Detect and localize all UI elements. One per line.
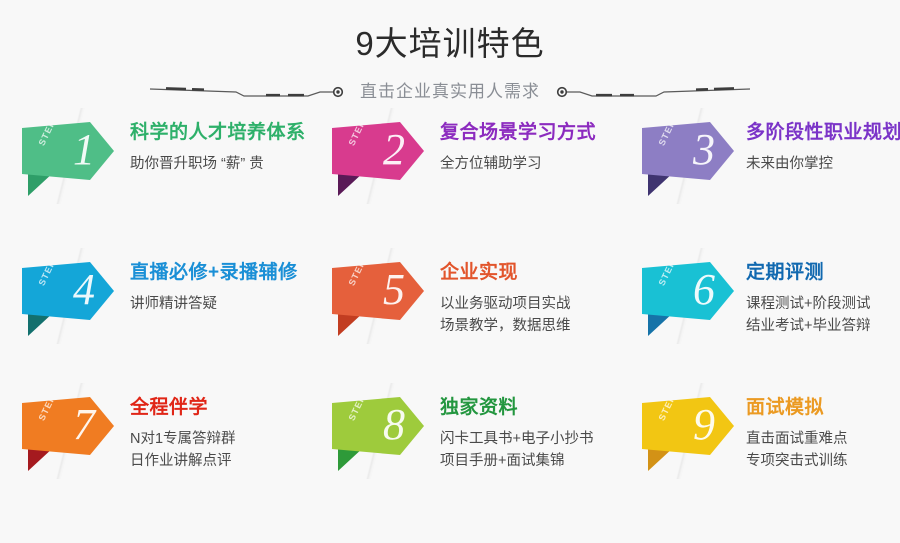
step-number: 7 (73, 396, 95, 454)
step-number: 2 (383, 121, 405, 179)
feature-title: 直播必修+录播辅修 (130, 258, 298, 288)
feature-desc: 课程测试+阶段测试结业考试+毕业答辩 (746, 293, 870, 337)
feature-desc-line: N对1专属答辩群 (130, 428, 236, 450)
badge-plate-icon: STEP 6 (642, 262, 734, 320)
feature-highlights-page: 9大培训特色 直击企业真实用人需求 (0, 0, 900, 543)
feature-desc: 直击面试重难点专项突击式训练 (746, 428, 848, 472)
badge-plate-icon: STEP 3 (642, 122, 734, 180)
feature-desc: 讲师精讲答疑 (130, 293, 298, 315)
feature-desc-line: 结业考试+毕业答辩 (746, 315, 870, 337)
page-header: 9大培训特色 直击企业真实用人需求 (0, 0, 900, 115)
feature-text-8: 独家资料 闪卡工具书+电子小抄书项目手册+面试集锦 (440, 393, 593, 472)
step-number: 1 (73, 121, 95, 179)
page-title: 9大培训特色 (0, 24, 900, 64)
feature-title: 科学的人才培养体系 (130, 118, 306, 148)
feature-text-9: 面试模拟 直击面试重难点专项突击式训练 (746, 393, 848, 472)
step-number: 8 (383, 396, 405, 454)
step-label: STEP (657, 118, 678, 147)
feature-desc-line: 全方位辅助学习 (440, 153, 596, 175)
step-badge-1: STEP 1 (22, 122, 114, 180)
step-badge-3: STEP 3 (642, 122, 734, 180)
feature-desc-line: 场景教学，数据思维 (440, 315, 571, 337)
step-badge-4: STEP 4 (22, 262, 114, 320)
feature-desc: 助你晋升职场 “薪” 贵 (130, 153, 306, 175)
feature-desc-line: 助你晋升职场 “薪” 贵 (130, 153, 306, 175)
feature-item-4[interactable]: STEP 4 直播必修+录播辅修 讲师精讲答疑 (22, 258, 322, 378)
step-label: STEP (347, 118, 368, 147)
feature-title: 复合场景学习方式 (440, 118, 596, 148)
step-label: STEP (657, 393, 678, 422)
feature-item-8[interactable]: STEP 8 独家资料 闪卡工具书+电子小抄书项目手册+面试集锦 (332, 393, 632, 513)
features-grid: STEP 1 科学的人才培养体系 助你晋升职场 “薪” 贵 STEP 2 (0, 118, 900, 543)
feature-row: STEP 4 直播必修+录播辅修 讲师精讲答疑 STEP 5 (0, 258, 900, 393)
feature-desc: 闪卡工具书+电子小抄书项目手册+面试集锦 (440, 428, 593, 472)
step-label: STEP (37, 258, 58, 287)
feature-item-2[interactable]: STEP 2 复合场景学习方式 全方位辅助学习 (332, 118, 632, 238)
feature-item-5[interactable]: STEP 5 企业实现 以业务驱动项目实战场景教学，数据思维 (332, 258, 632, 378)
feature-item-3[interactable]: STEP 3 多阶段性职业规划 未来由你掌控 (642, 118, 900, 238)
feature-desc: 未来由你掌控 (746, 153, 900, 175)
feature-item-1[interactable]: STEP 1 科学的人才培养体系 助你晋升职场 “薪” 贵 (22, 118, 322, 238)
dashed-rule-right-icon (556, 80, 752, 104)
badge-plate-icon: STEP 1 (22, 122, 114, 180)
feature-item-6[interactable]: STEP 6 定期评测 课程测试+阶段测试结业考试+毕业答辩 (642, 258, 900, 378)
step-number: 5 (383, 261, 405, 319)
feature-title: 定期评测 (746, 258, 870, 288)
step-number: 6 (693, 261, 715, 319)
feature-desc: 全方位辅助学习 (440, 153, 596, 175)
badge-plate-icon: STEP 8 (332, 397, 424, 455)
page-subtitle: 直击企业真实用人需求 (344, 81, 556, 103)
feature-desc-line: 未来由你掌控 (746, 153, 900, 175)
step-badge-9: STEP 9 (642, 397, 734, 455)
feature-desc: 以业务驱动项目实战场景教学，数据思维 (440, 293, 571, 337)
feature-desc: N对1专属答辩群日作业讲解点评 (130, 428, 236, 472)
badge-plate-icon: STEP 2 (332, 122, 424, 180)
badge-plate-icon: STEP 9 (642, 397, 734, 455)
feature-title: 企业实现 (440, 258, 571, 288)
step-label: STEP (37, 118, 58, 147)
step-label: STEP (657, 258, 678, 287)
step-badge-8: STEP 8 (332, 397, 424, 455)
feature-text-3: 多阶段性职业规划 未来由你掌控 (746, 118, 900, 175)
feature-desc-line: 以业务驱动项目实战 (440, 293, 571, 315)
step-label: STEP (347, 393, 368, 422)
feature-desc-line: 闪卡工具书+电子小抄书 (440, 428, 593, 450)
feature-title: 面试模拟 (746, 393, 848, 423)
badge-plate-icon: STEP 7 (22, 397, 114, 455)
feature-title: 全程伴学 (130, 393, 236, 423)
feature-item-7[interactable]: STEP 7 全程伴学 N对1专属答辩群日作业讲解点评 (22, 393, 322, 513)
step-number: 9 (693, 396, 715, 454)
dashed-rule-left-icon (148, 80, 344, 104)
feature-text-5: 企业实现 以业务驱动项目实战场景教学，数据思维 (440, 258, 571, 337)
feature-title: 多阶段性职业规划 (746, 118, 900, 148)
step-badge-5: STEP 5 (332, 262, 424, 320)
feature-row: STEP 7 全程伴学 N对1专属答辩群日作业讲解点评 STEP 8 (0, 393, 900, 528)
step-badge-6: STEP 6 (642, 262, 734, 320)
feature-text-6: 定期评测 课程测试+阶段测试结业考试+毕业答辩 (746, 258, 870, 337)
feature-row: STEP 1 科学的人才培养体系 助你晋升职场 “薪” 贵 STEP 2 (0, 118, 900, 253)
feature-text-2: 复合场景学习方式 全方位辅助学习 (440, 118, 596, 175)
feature-title: 独家资料 (440, 393, 593, 423)
feature-desc-line: 日作业讲解点评 (130, 450, 236, 472)
feature-desc-line: 直击面试重难点 (746, 428, 848, 450)
step-badge-7: STEP 7 (22, 397, 114, 455)
feature-text-4: 直播必修+录播辅修 讲师精讲答疑 (130, 258, 298, 315)
step-label: STEP (347, 258, 368, 287)
feature-item-9[interactable]: STEP 9 面试模拟 直击面试重难点专项突击式训练 (642, 393, 900, 513)
step-badge-2: STEP 2 (332, 122, 424, 180)
step-number: 4 (73, 261, 95, 319)
subtitle-row: 直击企业真实用人需求 (0, 78, 900, 106)
feature-desc-line: 项目手册+面试集锦 (440, 450, 593, 472)
feature-desc-line: 专项突击式训练 (746, 450, 848, 472)
badge-plate-icon: STEP 4 (22, 262, 114, 320)
feature-desc-line: 讲师精讲答疑 (130, 293, 298, 315)
feature-text-7: 全程伴学 N对1专属答辩群日作业讲解点评 (130, 393, 236, 472)
feature-text-1: 科学的人才培养体系 助你晋升职场 “薪” 贵 (130, 118, 306, 175)
step-number: 3 (693, 121, 715, 179)
badge-plate-icon: STEP 5 (332, 262, 424, 320)
step-label: STEP (37, 393, 58, 422)
feature-desc-line: 课程测试+阶段测试 (746, 293, 870, 315)
